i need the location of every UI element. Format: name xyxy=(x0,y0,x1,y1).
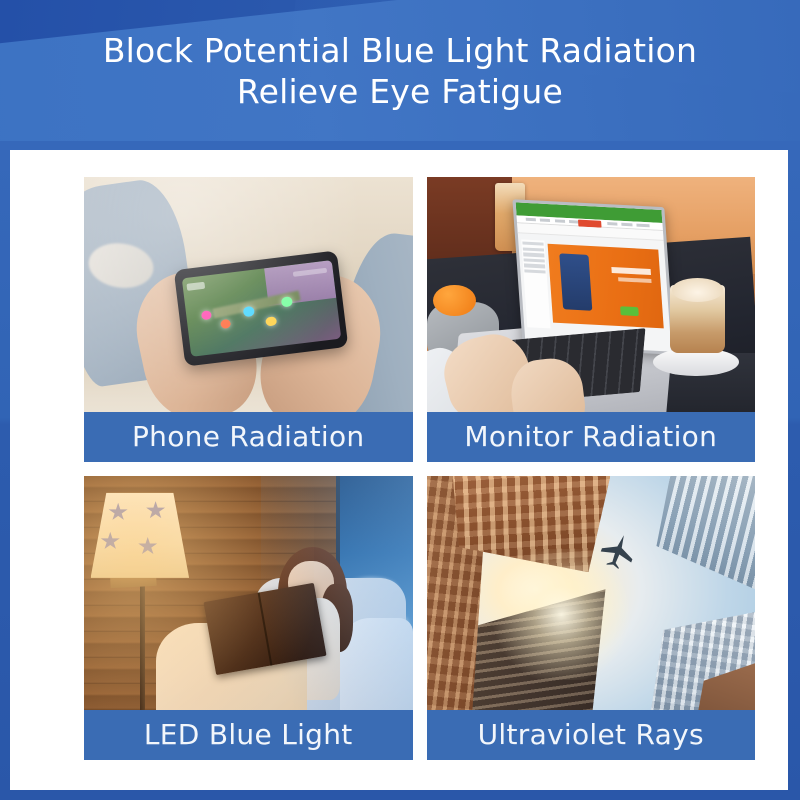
headline-line-1: Block Potential Blue Light Radiation xyxy=(103,30,697,71)
white-panel: Phone Radiation xyxy=(10,150,788,790)
site-promo-banner xyxy=(548,243,665,328)
sidebar-link xyxy=(524,252,545,257)
card-label-uv: Ultraviolet Rays xyxy=(478,720,704,750)
card-ultraviolet-rays[interactable]: Ultraviolet Rays xyxy=(427,476,756,761)
nav-item xyxy=(555,219,565,223)
header-banner: Block Potential Blue Light Radiation Rel… xyxy=(0,0,800,141)
site-sidebar xyxy=(522,239,551,328)
headline-line-2: Relieve Eye Fatigue xyxy=(237,71,563,112)
card-label-phone: Phone Radiation xyxy=(132,422,364,452)
nav-item xyxy=(526,217,536,221)
feature-card-grid: Phone Radiation xyxy=(10,150,788,790)
orange-fruit xyxy=(433,285,476,316)
card-label-monitor: Monitor Radiation xyxy=(464,422,717,452)
card-led-blue-light[interactable]: LED Blue Light xyxy=(84,476,413,761)
card-label-bar-monitor: Monitor Radiation xyxy=(427,412,756,462)
card-label-bar-phone: Phone Radiation xyxy=(84,412,413,462)
card-label-bar-led: LED Blue Light xyxy=(84,710,413,760)
sidebar-link xyxy=(524,258,545,263)
nav-item xyxy=(608,222,618,226)
card-label-bar-uv: Ultraviolet Rays xyxy=(427,710,756,760)
nav-item xyxy=(540,218,550,222)
banner-page: Block Potential Blue Light Radiation Rel… xyxy=(0,0,800,800)
card-phone-radiation[interactable]: Phone Radiation xyxy=(84,177,413,462)
nav-item xyxy=(637,223,650,227)
laptop-screen xyxy=(513,199,675,355)
sidebar-link xyxy=(523,241,544,246)
card-monitor-radiation[interactable]: Monitor Radiation xyxy=(427,177,756,462)
latte-foam xyxy=(672,278,723,301)
latte-cup xyxy=(670,285,726,353)
card-label-led: LED Blue Light xyxy=(144,720,353,750)
sidebar-link xyxy=(525,263,546,268)
header-text-block: Block Potential Blue Light Radiation Rel… xyxy=(0,0,800,141)
promo-headline xyxy=(612,267,652,275)
promo-product-image xyxy=(560,253,593,310)
sidebar-link xyxy=(525,269,546,274)
nav-item xyxy=(622,222,632,226)
promo-subtext xyxy=(619,277,653,283)
promo-cta-button xyxy=(621,306,639,316)
content-frame: Phone Radiation xyxy=(0,141,800,800)
sidebar-link xyxy=(523,247,544,252)
